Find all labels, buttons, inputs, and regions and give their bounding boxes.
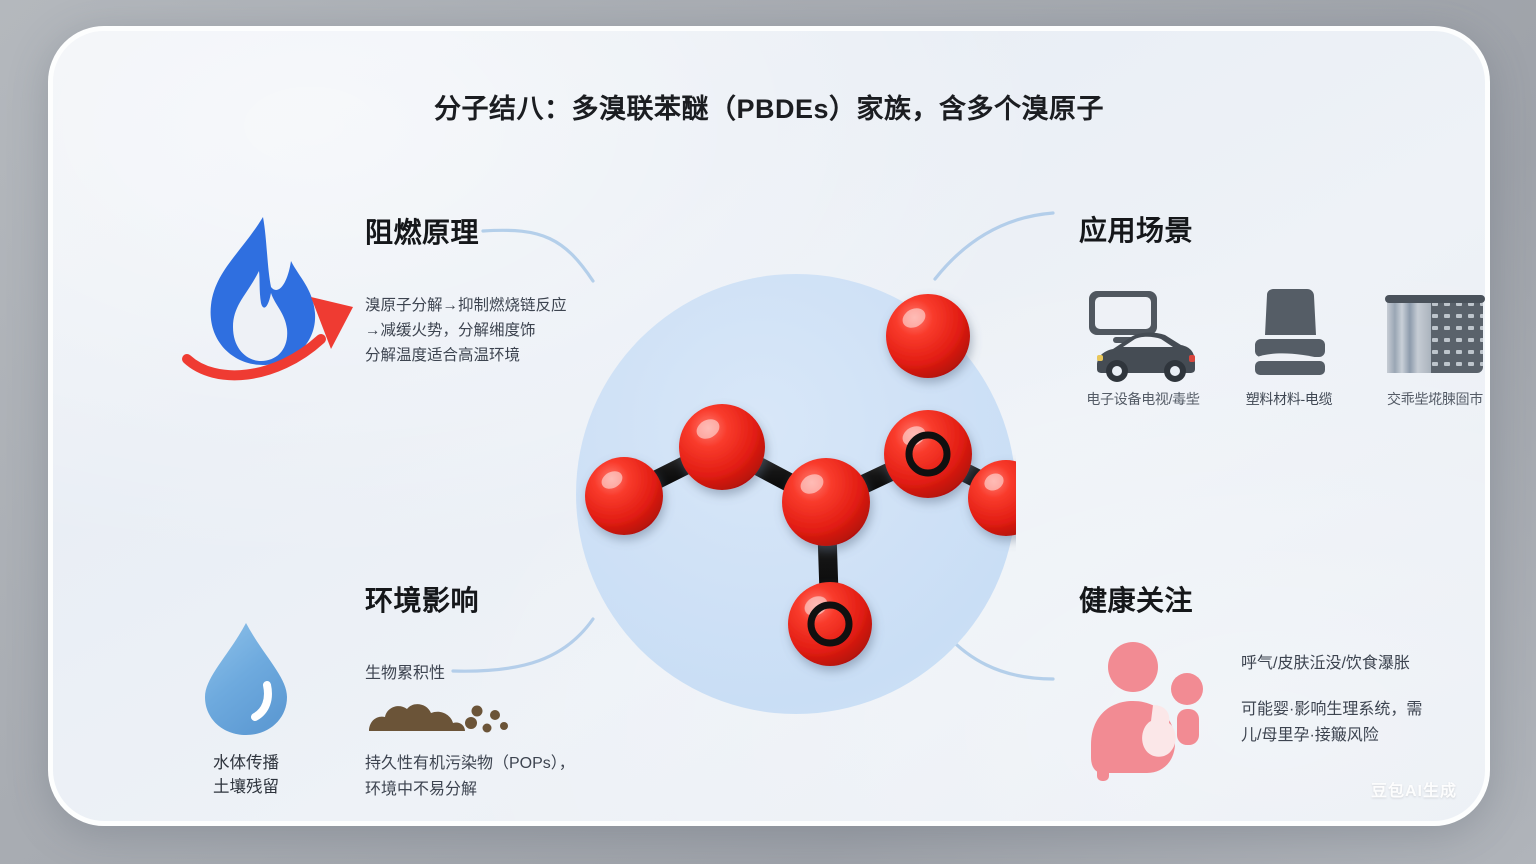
watermark: 豆包AI生成 — [1371, 777, 1457, 801]
water-drop-icon — [191, 619, 301, 739]
atom-bromine-top — [886, 294, 970, 378]
tv-screen — [1095, 297, 1151, 329]
soil-mound — [369, 704, 465, 731]
application-item-textile: 交乖㘹埖脨囼巿 — [1371, 283, 1490, 409]
car-taillight — [1189, 355, 1195, 362]
water-caption: 水体传播 土壤残留 — [171, 752, 321, 800]
environment-section-heading: 环境影响 — [365, 579, 665, 619]
page-title: 分子结八：多溴联苯醚（PBDEs）家族，含多个溴原子 — [53, 87, 1485, 126]
curtain-textile-icon — [1371, 283, 1490, 383]
car-headlight — [1097, 355, 1103, 361]
environment-line-2: 持久性有机污染物（POPs）， 环境中不易分解 — [365, 751, 665, 802]
flame-with-arrow-icon — [171, 209, 371, 389]
atom-carbon-upper-left — [679, 404, 765, 490]
environment-line-1: 生物累积性 — [365, 659, 665, 683]
environment-section: 环境影响 生物累积性 持久性有机污染物（POPs）， 环境中不易分解 — [365, 579, 665, 802]
child-head — [1171, 673, 1203, 705]
application-section-heading: 应用场景 — [1079, 209, 1490, 249]
soil-particle — [472, 706, 483, 717]
soil-particle — [490, 710, 500, 720]
atom-center — [782, 458, 870, 546]
tv-and-car-icon — [1079, 283, 1207, 383]
soil-dirt-icon — [365, 697, 665, 737]
health-section-heading-wrap: 健康关注 — [1079, 579, 1193, 619]
adult-head — [1108, 642, 1158, 692]
drop-body — [205, 623, 287, 735]
infographic-card: 分子结八：多溴联苯醚（PBDEs）家族，含多个溴原子 — [48, 26, 1490, 826]
car-seat-icon — [1225, 283, 1353, 383]
curtain-rod — [1385, 295, 1485, 303]
application-item-label: 电子设备电视/毒㘹 — [1079, 389, 1207, 409]
application-section: 应用场景 — [1079, 209, 1490, 409]
flame-section-heading: 阻燃原理 — [365, 211, 665, 251]
flame-section-body: 溴原子分解→抑制燃烧链反应 →减缓火势，分解缃度饰 分解温度适合高温环境 — [365, 293, 665, 368]
health-section-heading: 健康关注 — [1079, 579, 1193, 619]
textile-striped — [1387, 299, 1431, 373]
water-section: 水体传播 土壤残留 — [171, 619, 321, 800]
atom-oxygen-upper-right — [884, 410, 972, 498]
soil-particle — [500, 722, 508, 730]
application-item-label: 交乖㘹埖脨囼巿 — [1371, 389, 1490, 409]
seat-base — [1255, 361, 1325, 375]
atom-bromine-left — [585, 457, 663, 535]
adult-arm — [1097, 745, 1109, 781]
seat-back — [1265, 289, 1316, 335]
application-item-electronics: 电子设备电视/毒㘹 — [1079, 283, 1207, 409]
health-line-2: 可能婴·影响生理系统，需 儿/母里孕·接簸风险 — [1241, 697, 1490, 749]
parent-and-child-icon — [1081, 637, 1231, 787]
connector-top-right — [935, 213, 1053, 279]
health-line-1: 呼气/皮肤㳋没/饮食瀑胀 — [1241, 649, 1490, 673]
flame-retardant-section: 阻燃原理 溴原子分解→抑制燃烧链反应 →减缓火势，分解缃度饰 分解温度适合高温环… — [365, 211, 665, 368]
soil-particle — [465, 717, 477, 729]
application-icon-row: 电子设备电视/毒㘹 塑料材料-电缆 — [1079, 283, 1490, 409]
child-body — [1177, 709, 1199, 745]
atom-oxygen-bottom — [788, 582, 872, 666]
application-item-plastics: 塑料材料-电缆 — [1225, 283, 1353, 409]
health-section-text: 呼气/皮肤㳋没/饮食瀑胀 可能婴·影响生理系统，需 儿/母里孕·接簸风险 — [1241, 649, 1490, 749]
soil-particle — [483, 724, 492, 733]
application-item-label: 塑料材料-电缆 — [1225, 389, 1353, 409]
